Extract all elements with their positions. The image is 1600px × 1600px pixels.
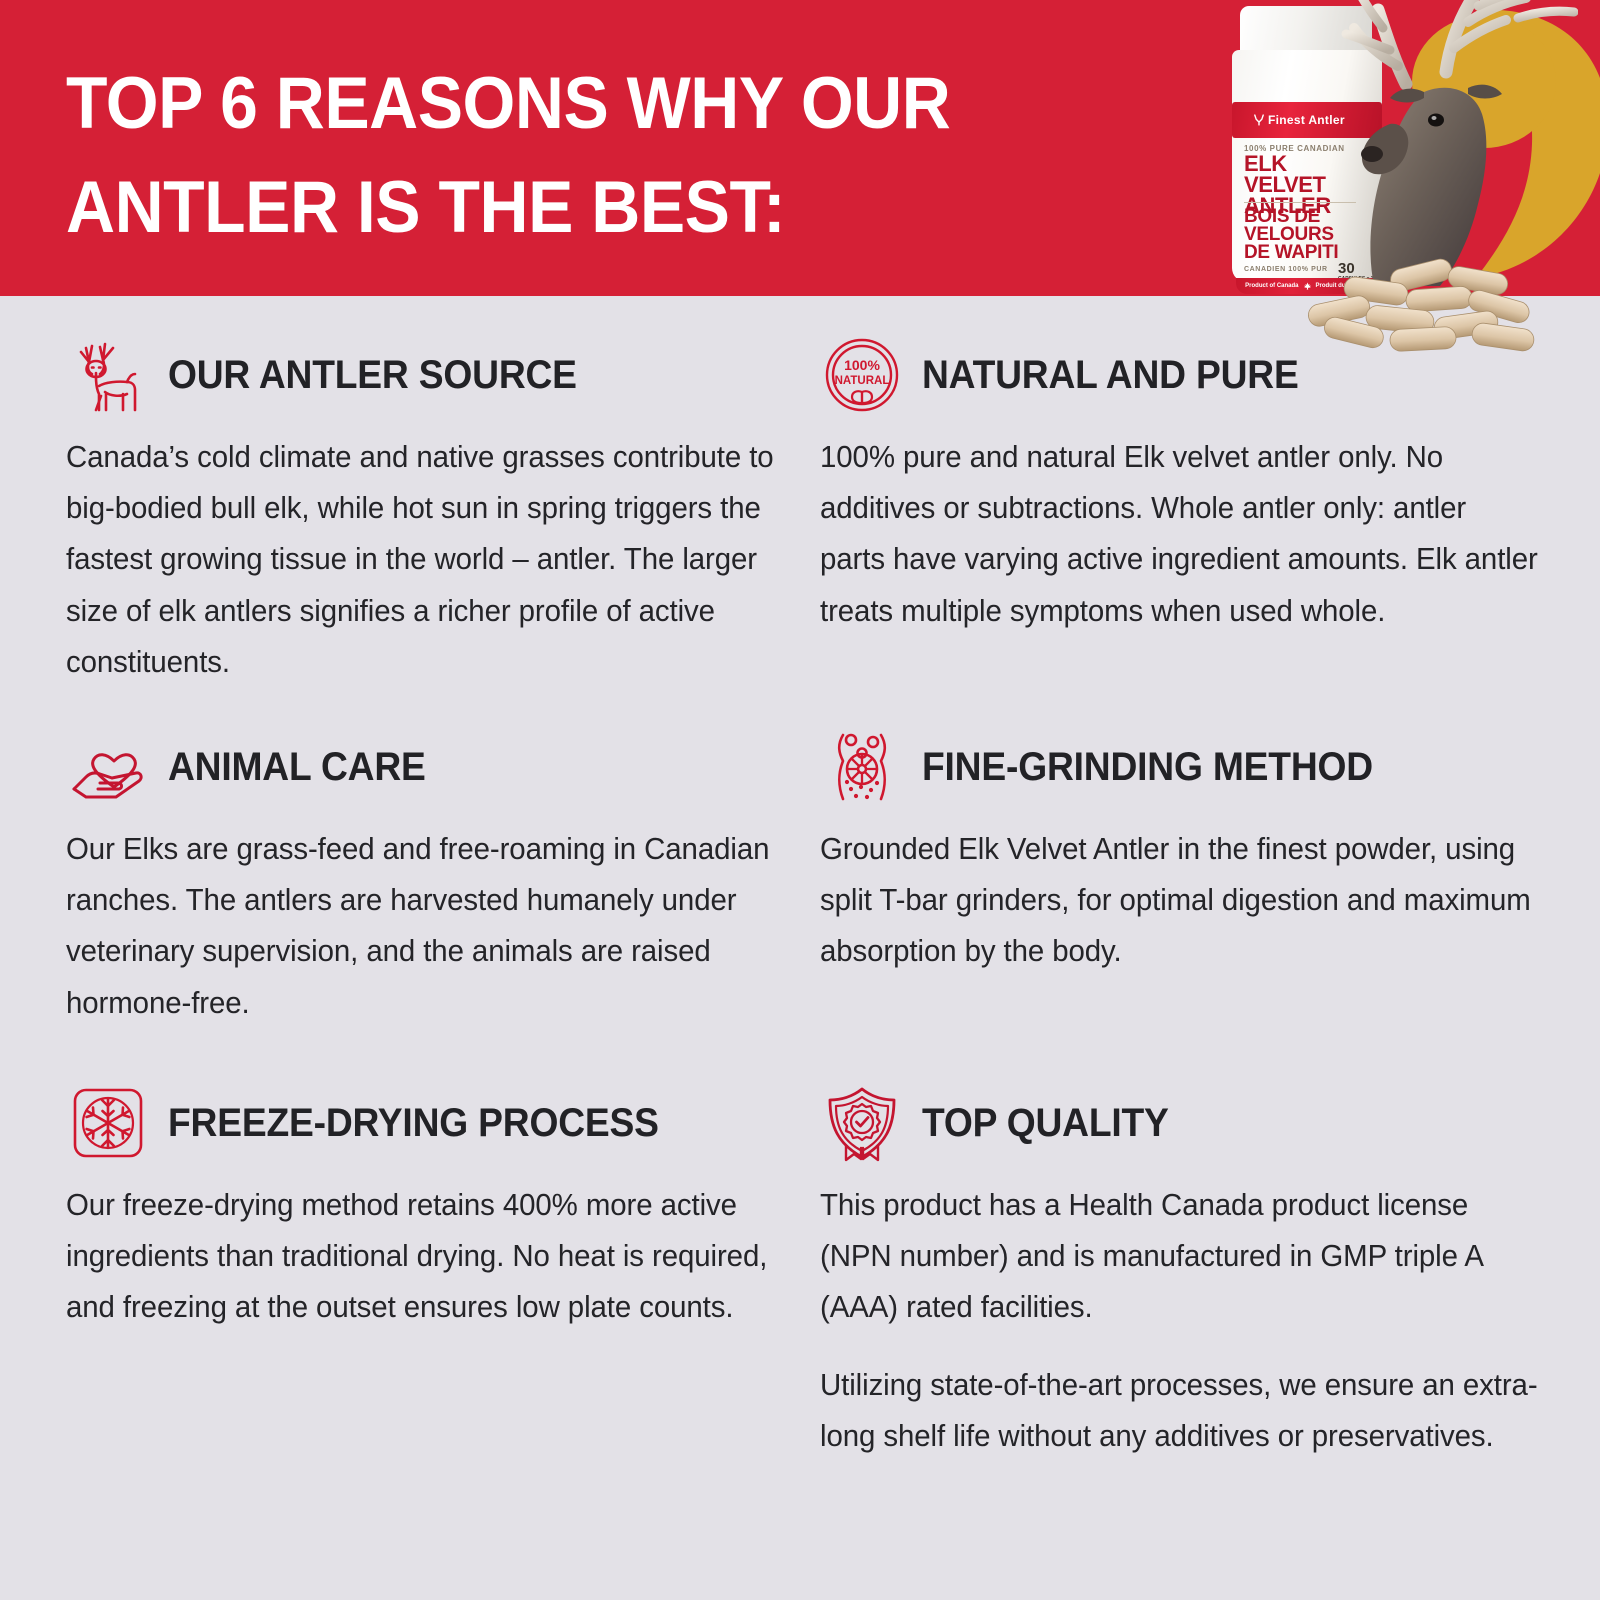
natural-badge-icon: 100% NATURAL — [820, 333, 904, 417]
reason-paragraph: 100% pure and natural Elk velvet antler … — [820, 432, 1539, 637]
reason-header: 100% NATURAL NATURAL AND PURE — [820, 332, 1565, 418]
reason-paragraph: This product has a Health Canada product… — [820, 1180, 1539, 1334]
grinder-icon — [820, 725, 904, 809]
badge-line2: NATURAL — [835, 375, 890, 387]
reason-body: Our Elks are grass-feed and free-roaming… — [66, 824, 785, 1029]
reasons-grid: OUR ANTLER SOURCE Canada’s cold climate … — [0, 296, 1600, 1600]
reason-title: TOP QUALITY — [922, 1101, 1169, 1146]
reason-header: FREEZE-DRYING PROCESS — [66, 1080, 811, 1166]
reason-card-natural-and-pure: 100% NATURAL NATURAL AND PURE 100% pure … — [820, 332, 1565, 637]
reason-paragraph: Utilizing state-of-the-art processes, we… — [820, 1360, 1539, 1462]
reason-paragraph: Our freeze-drying method retains 400% mo… — [66, 1180, 785, 1334]
reason-title: OUR ANTLER SOURCE — [168, 353, 577, 398]
reason-card-our-antler-source: OUR ANTLER SOURCE Canada’s cold climate … — [66, 332, 811, 688]
reason-title: FINE-GRINDING METHOD — [922, 745, 1373, 790]
reason-header: TOP QUALITY — [820, 1080, 1565, 1166]
page-title: TOP 6 REASONS WHY OUR ANTLER IS THE BEST… — [66, 52, 1052, 259]
reason-title: NATURAL AND PURE — [922, 353, 1299, 398]
reason-card-freeze-drying-process: FREEZE-DRYING PROCESS Our freeze-drying … — [66, 1080, 811, 1334]
snowflake-icon — [66, 1081, 150, 1165]
reason-paragraph: Canada’s cold climate and native grasses… — [66, 432, 785, 688]
reason-header: ANIMAL CARE — [66, 724, 811, 810]
infographic-page: TOP 6 REASONS WHY OUR ANTLER IS THE BEST… — [0, 0, 1600, 1600]
reason-body: 100% pure and natural Elk velvet antler … — [820, 432, 1539, 637]
reason-body: This product has a Health Canada product… — [820, 1180, 1539, 1462]
shield-check-icon — [820, 1081, 904, 1165]
reason-card-top-quality: TOP QUALITY This product has a Health Ca… — [820, 1080, 1565, 1462]
reason-body: Canada’s cold climate and native grasses… — [66, 432, 785, 688]
reason-header: OUR ANTLER SOURCE — [66, 332, 811, 418]
header-banner: TOP 6 REASONS WHY OUR ANTLER IS THE BEST… — [0, 0, 1600, 296]
reason-card-fine-grinding-method: FINE-GRINDING METHOD Grounded Elk Velvet… — [820, 724, 1565, 978]
reason-paragraph: Grounded Elk Velvet Antler in the finest… — [820, 824, 1539, 978]
badge-line1: 100% — [844, 357, 880, 373]
reason-body: Our freeze-drying method retains 400% mo… — [66, 1180, 785, 1334]
hand-heart-icon — [66, 725, 150, 809]
deer-icon — [66, 333, 150, 417]
reason-header: FINE-GRINDING METHOD — [820, 724, 1565, 810]
reason-card-animal-care: ANIMAL CARE Our Elks are grass-feed and … — [66, 724, 811, 1029]
reason-body: Grounded Elk Velvet Antler in the finest… — [820, 824, 1539, 978]
reason-title: FREEZE-DRYING PROCESS — [168, 1101, 659, 1146]
reason-title: ANIMAL CARE — [168, 745, 426, 790]
reason-paragraph: Our Elks are grass-feed and free-roaming… — [66, 824, 785, 1029]
